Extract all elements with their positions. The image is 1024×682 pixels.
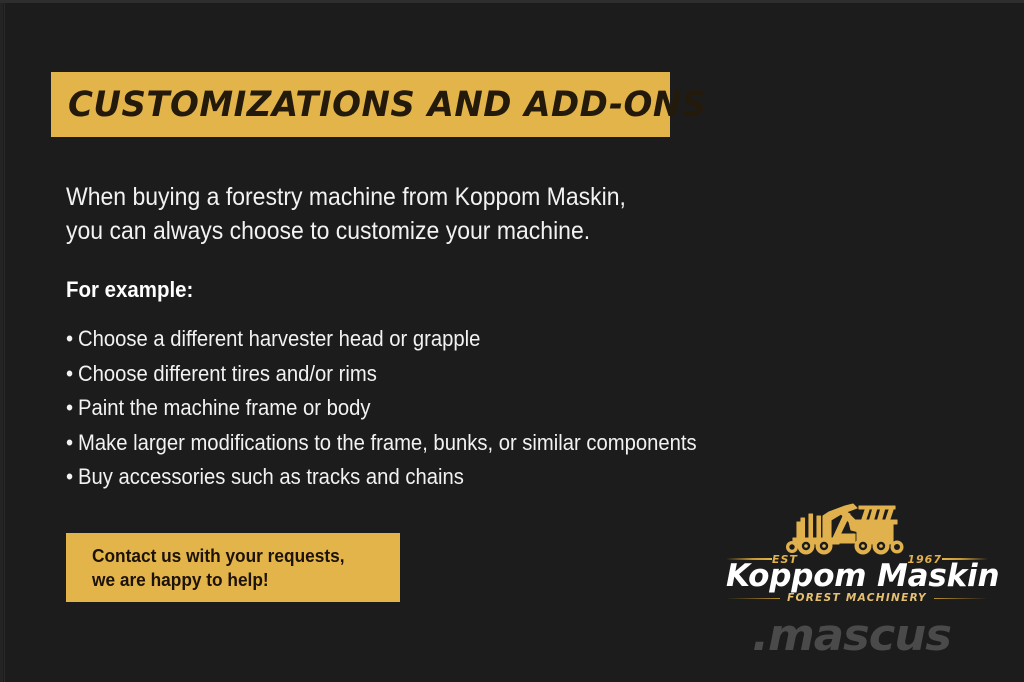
- slide-canvas: CUSTOMIZATIONS AND ADD-ONS When buying a…: [0, 0, 1024, 682]
- list-item-label: Buy accessories such as tracks and chain…: [78, 464, 464, 489]
- mascus-watermark: .mascus: [752, 612, 997, 660]
- logo-brand-name: Koppom Maskin: [726, 560, 988, 592]
- bullet-icon: •: [66, 426, 78, 461]
- list-item: •Buy accessories such as tracks and chai…: [66, 460, 820, 495]
- bullet-icon: •: [66, 460, 78, 495]
- customization-options-list: •Choose a different harvester head or gr…: [66, 322, 886, 495]
- intro-line-2: you can always choose to customize your …: [66, 214, 765, 248]
- logo-tagline: FOREST MACHINERY: [787, 592, 927, 604]
- forestry-forwarder-icon: [779, 500, 939, 556]
- logo-tagline-rule-right: [934, 598, 988, 599]
- left-edge-strip-outer: [0, 3, 3, 682]
- intro-line-1: When buying a forestry machine from Kopp…: [66, 180, 765, 214]
- logo-tagline-row: FOREST MACHINERY: [726, 592, 988, 604]
- list-item: •Paint the machine frame or body: [66, 391, 820, 426]
- page-title: CUSTOMIZATIONS AND ADD-ONS: [68, 85, 707, 125]
- bullet-icon: •: [66, 322, 78, 357]
- contact-cta-box[interactable]: Contact us with your requests, we are ha…: [66, 533, 400, 602]
- list-item-label: Choose different tires and/or rims: [78, 361, 377, 386]
- list-item: •Choose different tires and/or rims: [66, 357, 820, 392]
- list-item-label: Paint the machine frame or body: [78, 395, 371, 420]
- list-item-label: Choose a different harvester head or gra…: [78, 326, 480, 351]
- koppom-maskin-logo: EST 1967 Koppom Maskin FOREST MACHINERY: [726, 500, 988, 604]
- for-example-heading: For example:: [66, 277, 193, 303]
- cta-line-1: Contact us with your requests,: [92, 544, 388, 568]
- list-item-label: Make larger modifications to the frame, …: [78, 430, 697, 455]
- intro-paragraph: When buying a forestry machine from Kopp…: [66, 180, 826, 248]
- cta-line-2: we are happy to help!: [92, 568, 388, 592]
- top-edge-strip: [0, 0, 1024, 3]
- bullet-icon: •: [66, 357, 78, 392]
- bullet-icon: •: [66, 391, 78, 426]
- left-edge-strip-inner: [4, 3, 5, 682]
- title-banner: CUSTOMIZATIONS AND ADD-ONS: [51, 72, 670, 137]
- list-item: •Make larger modifications to the frame,…: [66, 426, 820, 461]
- list-item: •Choose a different harvester head or gr…: [66, 322, 820, 357]
- logo-tagline-rule-left: [726, 598, 780, 599]
